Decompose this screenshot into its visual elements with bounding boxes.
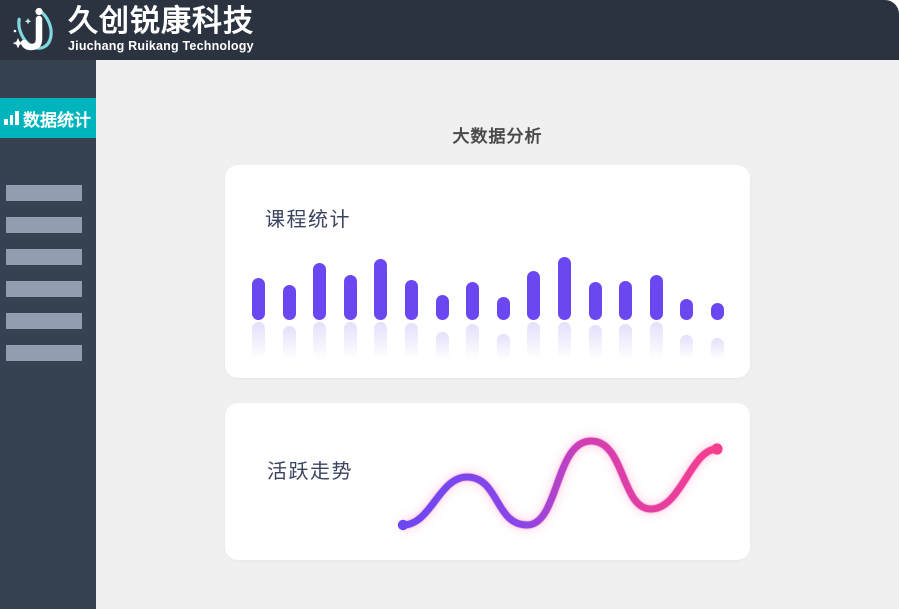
- bar: [680, 299, 693, 320]
- sidebar-placeholder-item[interactable]: [6, 281, 82, 297]
- brand-name-en: Jiuchang Ruikang Technology: [68, 39, 254, 53]
- bar-column[interactable]: [650, 250, 663, 360]
- bar: [283, 285, 296, 320]
- bar-reflection: [711, 338, 724, 360]
- bar-column[interactable]: [283, 250, 296, 360]
- bar-reflection: [619, 324, 632, 360]
- bar-reflection: [283, 326, 296, 360]
- bar: [711, 303, 724, 320]
- bar: [374, 259, 387, 320]
- sidebar-placeholder-item[interactable]: [6, 185, 82, 201]
- brand-name-cn: 久创锐康科技: [68, 7, 254, 38]
- main-content: 大数据分析 课程统计 活跃走势: [96, 60, 899, 609]
- bar-reflection: [466, 324, 479, 360]
- sidebar-placeholder-item[interactable]: [6, 313, 82, 329]
- bar-reflection: [252, 322, 265, 360]
- bar: [405, 280, 418, 320]
- bar-reflection: [680, 335, 693, 360]
- brand-text-block: 久创锐康科技 Jiuchang Ruikang Technology: [68, 7, 254, 53]
- sidebar-item-data-statistics[interactable]: 数据统计: [0, 98, 96, 138]
- bar-reflection: [589, 325, 602, 360]
- card-title: 活跃走势: [267, 455, 353, 484]
- card-title: 课程统计: [265, 203, 351, 232]
- page-title: 大数据分析: [96, 122, 899, 147]
- sidebar-placeholder-list: [6, 185, 82, 377]
- bar: [558, 257, 571, 320]
- sidebar: 数据统计: [0, 60, 96, 609]
- bar-column[interactable]: [374, 250, 387, 360]
- bar-column[interactable]: [466, 250, 479, 360]
- sidebar-placeholder-item[interactable]: [6, 249, 82, 265]
- app-header: 久创锐康科技 Jiuchang Ruikang Technology: [0, 0, 899, 60]
- bar-column[interactable]: [497, 250, 510, 360]
- bar-reflection: [497, 334, 510, 360]
- bar-reflection: [374, 322, 387, 360]
- bar-column[interactable]: [405, 250, 418, 360]
- activity-line-chart: [395, 421, 725, 546]
- bar: [527, 271, 540, 320]
- bar-reflection: [344, 322, 357, 360]
- bar-reflection: [650, 322, 663, 360]
- bar-column[interactable]: [436, 250, 449, 360]
- line-end-marker: [711, 443, 722, 454]
- bar-column[interactable]: [344, 250, 357, 360]
- bar-column[interactable]: [558, 250, 571, 360]
- bar-reflection: [405, 323, 418, 360]
- bar-column[interactable]: [527, 250, 540, 360]
- sidebar-placeholder-item[interactable]: [6, 345, 82, 361]
- bar: [619, 281, 632, 320]
- bar: [436, 295, 449, 320]
- bar-column[interactable]: [619, 250, 632, 360]
- bar-chart: [252, 250, 724, 360]
- bar: [497, 297, 510, 320]
- bar-chart-icon: [4, 111, 20, 125]
- bar-column[interactable]: [252, 250, 265, 360]
- bar-reflection: [313, 322, 326, 360]
- bar: [589, 282, 602, 320]
- card-course-statistics: 课程统计: [225, 165, 750, 378]
- app-root: 久创锐康科技 Jiuchang Ruikang Technology 数据统计 …: [0, 0, 899, 609]
- bar: [650, 275, 663, 321]
- line-start-marker: [398, 520, 408, 530]
- bar-column[interactable]: [589, 250, 602, 360]
- bar-column[interactable]: [313, 250, 326, 360]
- sidebar-item-label: 数据统计: [23, 106, 91, 131]
- bar: [313, 263, 326, 320]
- sidebar-placeholder-item[interactable]: [6, 217, 82, 233]
- bar-column[interactable]: [680, 250, 693, 360]
- bar-column[interactable]: [711, 250, 724, 360]
- bar-reflection: [527, 322, 540, 360]
- card-activity-trend: 活跃走势: [225, 403, 750, 560]
- bar-reflection: [436, 332, 449, 360]
- bar: [466, 282, 479, 321]
- jiuchang-j-orbit-logo-icon: [6, 2, 64, 58]
- bar: [344, 275, 357, 321]
- bar-reflection: [558, 322, 571, 360]
- bar: [252, 278, 265, 320]
